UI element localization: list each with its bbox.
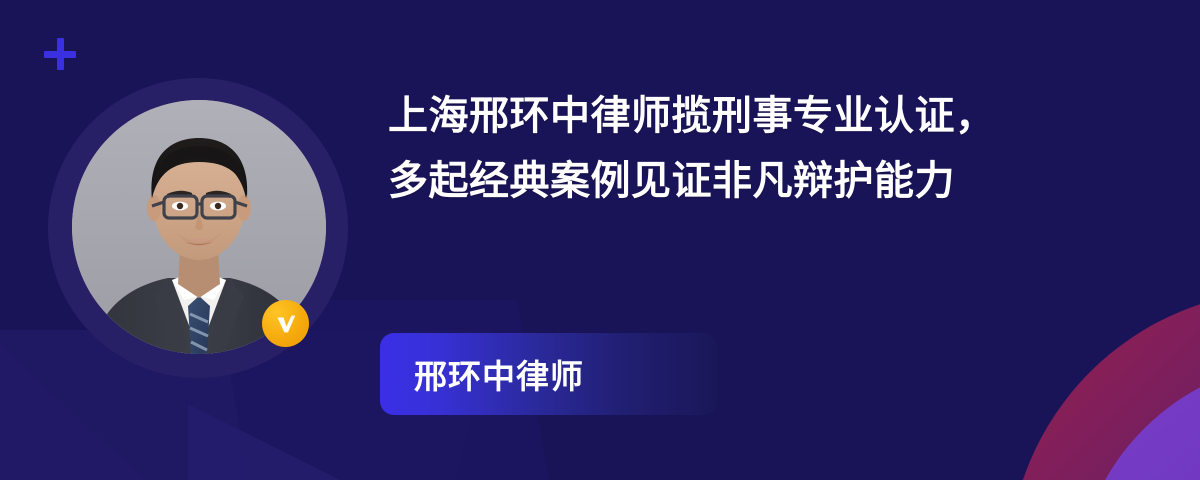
triangle-decoration-left	[0, 345, 150, 480]
triangle-decoration-center	[188, 404, 368, 480]
verified-badge	[262, 300, 309, 347]
lawyer-profile-button[interactable]: 邢环中律师	[380, 333, 717, 415]
promo-banner: 上海邢环中律师揽刑事专业认证，多起经典案例见证非凡辩护能力 邢环中律师	[0, 0, 1200, 480]
plus-icon	[44, 38, 76, 70]
avatar[interactable]	[72, 100, 326, 354]
page-title: 上海邢环中律师揽刑事专业认证，多起经典案例见证非凡辩护能力	[388, 84, 998, 214]
